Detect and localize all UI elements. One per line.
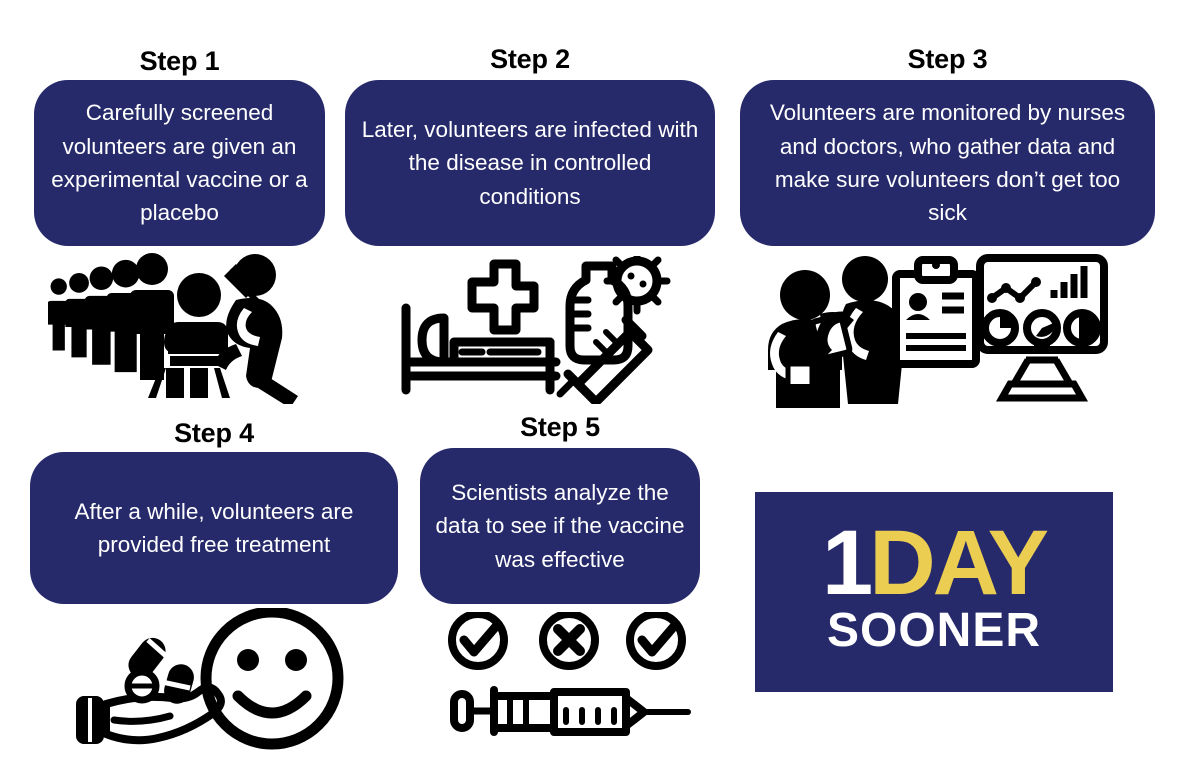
logo-sooner: SOONER	[827, 603, 1041, 658]
step-1-title: Step 1	[34, 46, 325, 77]
step-5-box: Scientists analyze the data to see if th…	[420, 448, 700, 604]
step-2-text: Later, volunteers are infected with the …	[359, 113, 701, 213]
check-circle-icon	[452, 614, 504, 666]
step-4-text: After a while, volunteers are provided f…	[44, 495, 384, 562]
check-circle-icon	[630, 614, 682, 666]
virus-icon	[607, 256, 667, 311]
hand-with-pills-icon	[76, 633, 221, 744]
step-2-box: Later, volunteers are infected with the …	[345, 80, 715, 246]
x-circle-icon	[543, 614, 595, 666]
step-3-icons	[748, 252, 1108, 408]
queue-of-people-icon	[48, 253, 174, 380]
step-3-title: Step 3	[740, 44, 1155, 75]
step-4-icons	[62, 608, 352, 750]
vaccine-trial-infographic: Step 1 Carefully screened volunteers are…	[0, 0, 1199, 782]
logo-wordmark: 1 DAY	[822, 526, 1046, 601]
nurse-with-syringe-icon	[214, 254, 298, 404]
step-1-icons	[48, 252, 338, 404]
step-3-text: Volunteers are monitored by nurses and d…	[754, 96, 1141, 229]
step-4-box: After a while, volunteers are provided f…	[30, 452, 398, 604]
step-4-title: Step 4	[30, 418, 398, 449]
one-day-sooner-logo[interactable]: 1 DAY SOONER	[755, 492, 1113, 692]
monitor-charts-icon	[980, 258, 1104, 398]
step-5-title: Step 5	[420, 412, 700, 443]
step-3-box: Volunteers are monitored by nurses and d…	[740, 80, 1155, 246]
logo-one: 1	[822, 526, 869, 601]
step-2-title: Step 2	[345, 44, 715, 75]
step-5-text: Scientists analyze the data to see if th…	[434, 476, 686, 576]
logo-day: DAY	[869, 526, 1046, 601]
smiley-face-icon	[206, 612, 338, 744]
syringe-horizontal-icon	[454, 690, 688, 732]
step-1-box: Carefully screened volunteers are given …	[34, 80, 325, 246]
step-1-text: Carefully screened volunteers are given …	[48, 96, 311, 229]
step-5-icons	[444, 612, 694, 742]
medical-cross-icon	[472, 256, 534, 330]
clipboard-record-icon	[896, 260, 976, 364]
step-2-icons	[390, 256, 680, 404]
hospital-bed-icon	[406, 308, 556, 390]
